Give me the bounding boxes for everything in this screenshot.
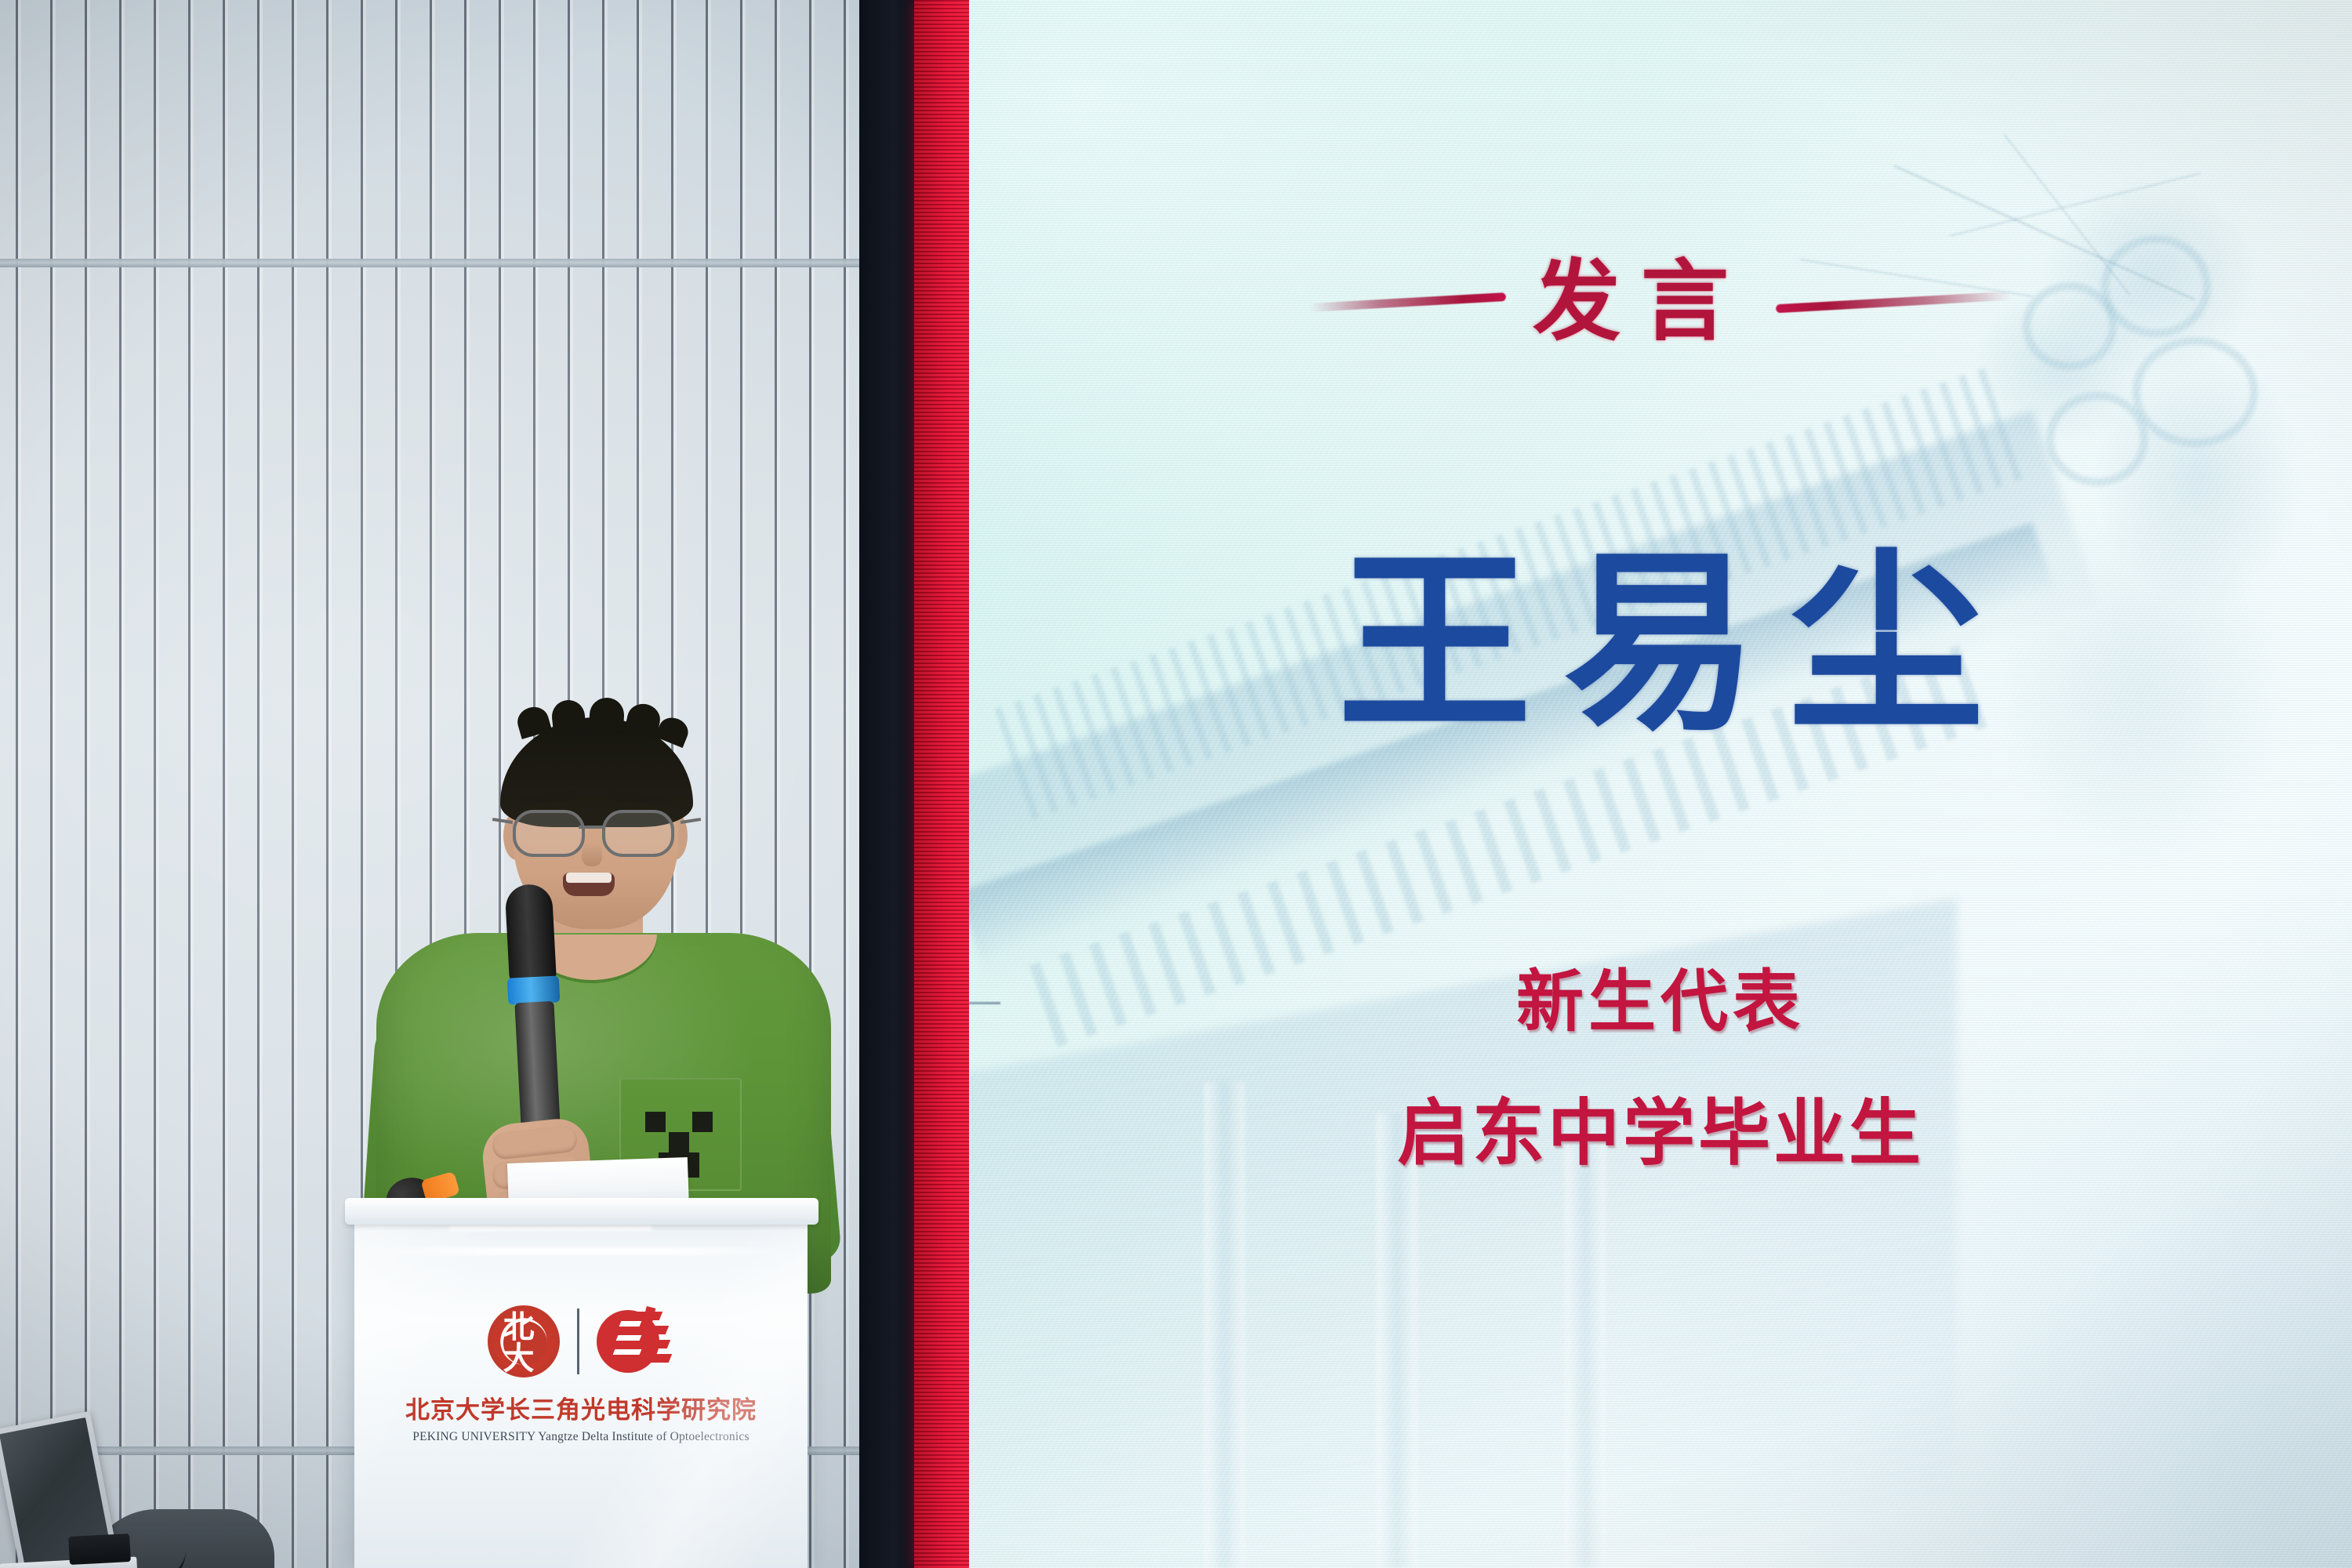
screen-bezel-black <box>859 0 922 1568</box>
institute-logo-lockup: PEKING UNIVERSITY 1898 北大 <box>354 1305 808 1444</box>
subtitle-row-2: 启东中学毕业生 <box>969 1098 2352 1170</box>
seal-center: 北大 <box>503 1321 547 1365</box>
speaker-role: 新生代表 <box>1516 968 1805 1036</box>
lens-right <box>602 810 674 857</box>
lectern-top-edge <box>345 1198 818 1225</box>
seal-glyph: 北大 <box>503 1312 547 1374</box>
glasses-bridge <box>579 826 605 829</box>
screen-title-row: 发言 <box>969 223 2352 380</box>
teeth <box>566 873 612 883</box>
screen-title: 发言 <box>1533 258 1749 346</box>
title-rule-right <box>1776 291 2011 313</box>
institute-mark-icon <box>597 1307 675 1376</box>
led-display: 发言 王易尘 新生代表 启东中学毕业生 <box>969 0 2352 1568</box>
microphone-ring-upper <box>507 975 561 1004</box>
subtitle-row-1: 新生代表 <box>969 968 2352 1036</box>
lectern: PEKING UNIVERSITY 1898 北大 <box>354 1211 808 1568</box>
mouth <box>563 873 615 896</box>
logo-divider <box>577 1308 579 1374</box>
lens-left <box>513 810 585 857</box>
subtitle-rule <box>969 1002 1000 1004</box>
finger <box>492 1125 579 1160</box>
microphone-head <box>505 884 557 983</box>
speaker-school: 启东中学毕业生 <box>1397 1098 1924 1170</box>
wall-seam-upper <box>0 259 909 267</box>
cable <box>60 1548 187 1568</box>
title-rule-left <box>1310 292 1506 312</box>
logo-marks-row: PEKING UNIVERSITY 1898 北大 <box>488 1305 675 1377</box>
lectern-highlight-top <box>448 1225 652 1231</box>
institute-name-chinese: 北京大学长三角光电科学研究院 <box>405 1390 757 1425</box>
speaker-name: 王易尘 <box>969 549 2352 743</box>
lectern-highlight <box>365 1247 795 1255</box>
screenshot-stage: 发言 王易尘 新生代表 启东中学毕业生 <box>0 0 2352 1568</box>
institute-name-english: PEKING UNIVERSITY Yangtze Delta Institut… <box>412 1430 749 1444</box>
peking-university-seal-icon: PEKING UNIVERSITY 1898 北大 <box>488 1305 560 1377</box>
nose <box>582 843 602 866</box>
